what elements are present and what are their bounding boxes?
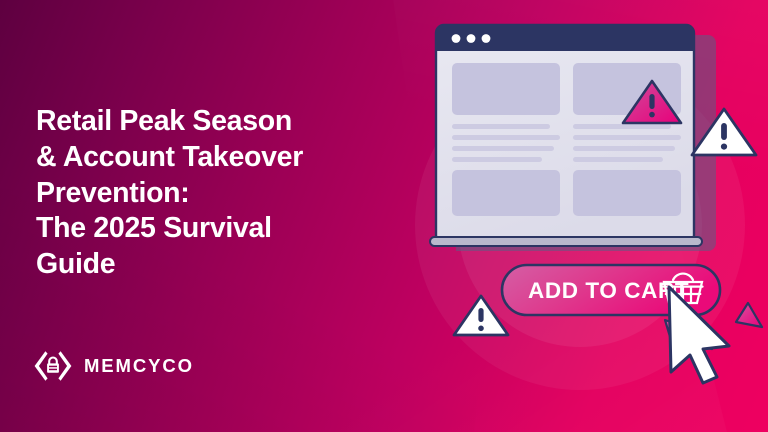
image-placeholder (452, 170, 560, 216)
image-placeholder (452, 63, 560, 115)
browser-dot-2 (467, 34, 476, 43)
logo-lockup[interactable]: MEMCYCO (33, 348, 194, 384)
text-line (573, 135, 681, 140)
browser-dot-1 (452, 34, 461, 43)
text-line (452, 135, 560, 140)
content-column-right (573, 63, 681, 216)
shield-lock-chevrons-icon (33, 348, 73, 384)
browser-dot-3 (482, 34, 491, 43)
text-line (573, 146, 675, 151)
headline-title: Retail Peak Season & Account Takeover Pr… (36, 104, 396, 283)
text-line (452, 157, 542, 162)
browser-window (430, 25, 716, 251)
browser-stand (430, 237, 702, 246)
content-column-left (452, 63, 560, 216)
text-line (452, 124, 550, 129)
text-line (452, 146, 554, 151)
banner: Retail Peak Season & Account Takeover Pr… (0, 0, 768, 432)
image-placeholder (573, 170, 681, 216)
ecommerce-checkout-attack-illustration: ADD TO CART (400, 0, 768, 432)
warning-triangle-icon-white-left (454, 296, 508, 335)
text-line (573, 124, 671, 129)
logo-wordmark: MEMCYCO (84, 355, 194, 377)
text-line (573, 157, 663, 162)
